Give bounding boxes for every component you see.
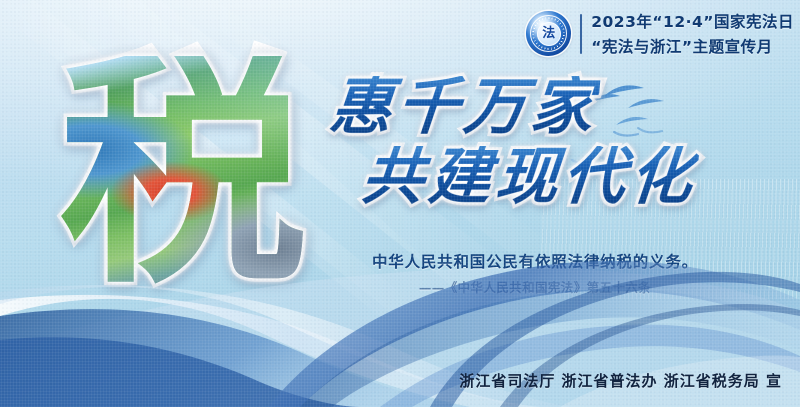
subtitle-block: 中华人民共和国公民有依照法律纳税的义务。 ——《中华人民共和国宪法》第五十六条: [355, 250, 715, 296]
header-line-2: “宪法与浙江”主题宣传月: [591, 35, 794, 57]
header-line-1: 2023年“12·4”国家宪法日: [591, 10, 794, 32]
legal-education-emblem-icon: 法: [526, 11, 571, 56]
hero-character-tax: 税: [18, 56, 348, 291]
header-text: 2023年“12·4”国家宪法日 “宪法与浙江”主题宣传月: [591, 10, 794, 57]
header-divider-icon: [580, 14, 582, 54]
footer-organizations: 浙江省司法厅 浙江省普法办 浙江省税务局 宣: [459, 370, 782, 391]
title-line2: 共建现代化: [359, 146, 699, 208]
header-badge: 法 2023年“12·4”国家宪法日 “宪法与浙江”主题宣传月: [526, 10, 794, 57]
poster-banner: 税 税 惠千万家 惠千万家 共建现代化 共建现代化 中华人民共和国公民有依照法律…: [0, 0, 800, 407]
main-title: 惠千万家 惠千万家 共建现代化 共建现代化: [322, 72, 722, 237]
subtitle-line1: 中华人民共和国公民有依照法律纳税的义务。: [355, 250, 715, 272]
emblem-glyph: 法: [542, 27, 555, 40]
title-line1: 惠千万家: [327, 76, 600, 138]
subtitle-line2: ——《中华人民共和国宪法》第五十六条: [355, 277, 715, 296]
emblem-core: 法: [537, 22, 561, 46]
